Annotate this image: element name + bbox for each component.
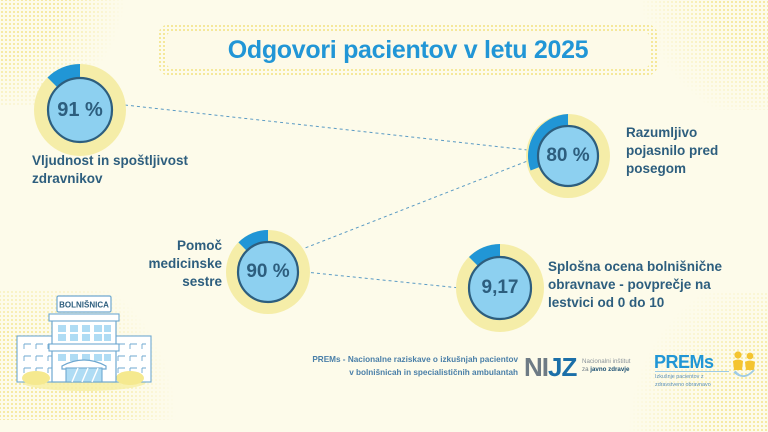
label-pojasnilo-line1: Razumljivo — [626, 125, 697, 140]
prems-wordmark: PREMs — [654, 352, 714, 373]
donut-pojasnilo: 80 % — [524, 112, 612, 200]
footer-note-line1: PREMs - Nacionalne raziskave o izkušnjah… — [312, 355, 518, 364]
label-pojasnilo-line3: posegom — [626, 161, 686, 176]
donut-pomoc-sestre: 90 % — [224, 228, 312, 316]
label-pojasnilo-line2: pojasnilo pred — [626, 143, 718, 158]
nijz-wordmark-ni: NI — [524, 352, 548, 382]
footer-note: PREMs - Nacionalne raziskave o izkušnjah… — [268, 354, 518, 379]
nijz-subtitle: Nacionalni inštitut za javno zdravje — [582, 358, 631, 375]
nijz-wordmark-j: J — [548, 352, 561, 382]
hospital-illustration: BOLNIŠNICA — [14, 282, 154, 392]
prems-subtitle-line2: zdravstveno obravnavo — [655, 382, 711, 388]
label-pomoc-sestre-line1: Pomoč — [177, 238, 222, 253]
label-pomoc-sestre-line2: medicinske — [148, 256, 222, 271]
nijz-subtitle-bold: javno zdravje — [590, 366, 629, 373]
prems-people-icon — [730, 350, 758, 387]
nijz-logo: NIJZ Nacionalni inštitut za javno zdravj… — [524, 355, 640, 383]
label-pojasnilo: Razumljivo pojasnilo pred posegom — [626, 124, 761, 177]
prems-subtitle-line1: Izkušnje pacientov z — [655, 374, 704, 380]
label-splosna-ocena-line3: lestvici od 0 do 10 — [548, 295, 664, 310]
nijz-wordmark-z: Z — [561, 352, 576, 382]
prems-logo: PREMs Izkušnje pacientov z zdravstveno o… — [654, 352, 758, 388]
page-title-box: Odgovori pacientov v letu 2025 — [158, 24, 658, 76]
footer-note-line2: v bolnišnicah in specialističnih ambulan… — [349, 368, 518, 377]
donut-vljudnost: 91 % — [32, 62, 128, 158]
hospital-sign-text: BOLNIŠNICA — [59, 301, 109, 310]
label-vljudnost-line1: Vljudnost in spoštljivost — [32, 153, 188, 168]
label-splosna-ocena: Splošna ocena bolnišnične obravnave - po… — [548, 258, 768, 311]
donut-splosna-ocena: 9,17 — [454, 242, 546, 334]
infographic-canvas: Odgovori pacientov v letu 2025 91 % Vlju… — [0, 0, 768, 402]
label-pomoc-sestre-line3: sestre — [182, 274, 222, 289]
label-splosna-ocena-line1: Splošna ocena bolnišnične — [548, 259, 722, 274]
prems-divider — [655, 371, 729, 372]
label-splosna-ocena-line2: obravnave - povprečje na — [548, 277, 711, 292]
label-vljudnost-line2: zdravnikov — [32, 171, 103, 186]
prems-subtitle: Izkušnje pacientov z zdravstveno obravna… — [655, 373, 729, 389]
label-vljudnost: Vljudnost in spoštljivost zdravnikov — [32, 152, 232, 188]
nijz-subtitle-line2: za javno zdravje — [582, 366, 631, 374]
nijz-wordmark: NIJZ — [524, 352, 576, 383]
page-title: Odgovori pacientov v letu 2025 — [228, 36, 589, 65]
nijz-subtitle-line1: Nacionalni inštitut — [582, 358, 631, 366]
